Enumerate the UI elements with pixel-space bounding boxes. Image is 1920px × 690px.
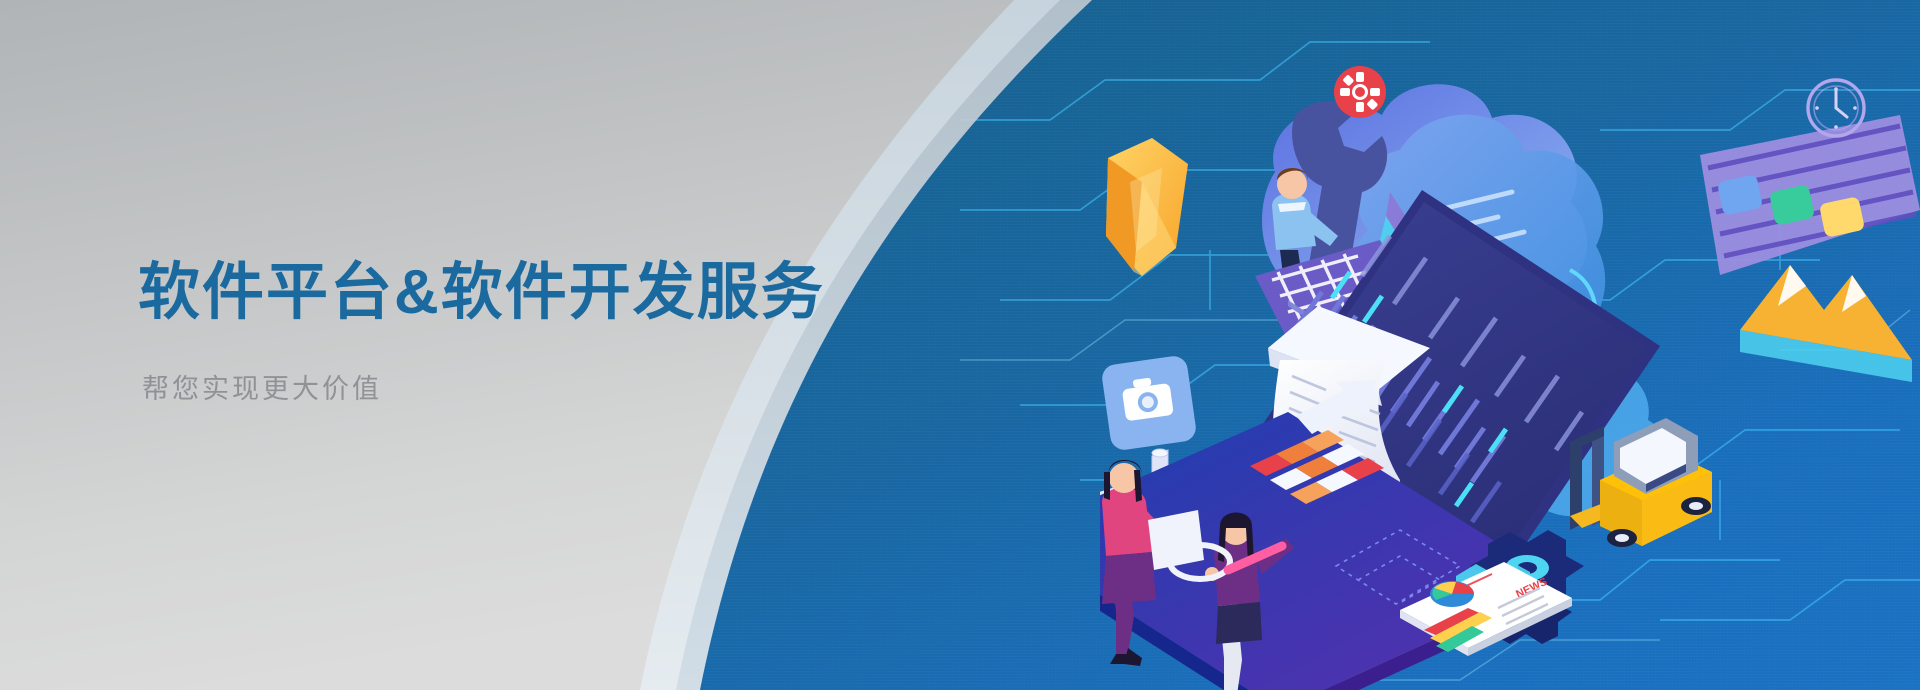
clock-icon	[1808, 80, 1864, 136]
page-title: 软件平台&软件开发服务	[138, 258, 898, 327]
striped-document-panel	[1700, 115, 1920, 275]
page-subtitle: 帮您实现更大价值	[142, 367, 898, 406]
hero-text-block: 软件平台&软件开发服务 帮您实现更大价值	[138, 258, 898, 406]
gear-icon	[1334, 66, 1386, 118]
mountain-chart	[1740, 265, 1912, 382]
hero-banner: NEWS	[0, 0, 1920, 690]
